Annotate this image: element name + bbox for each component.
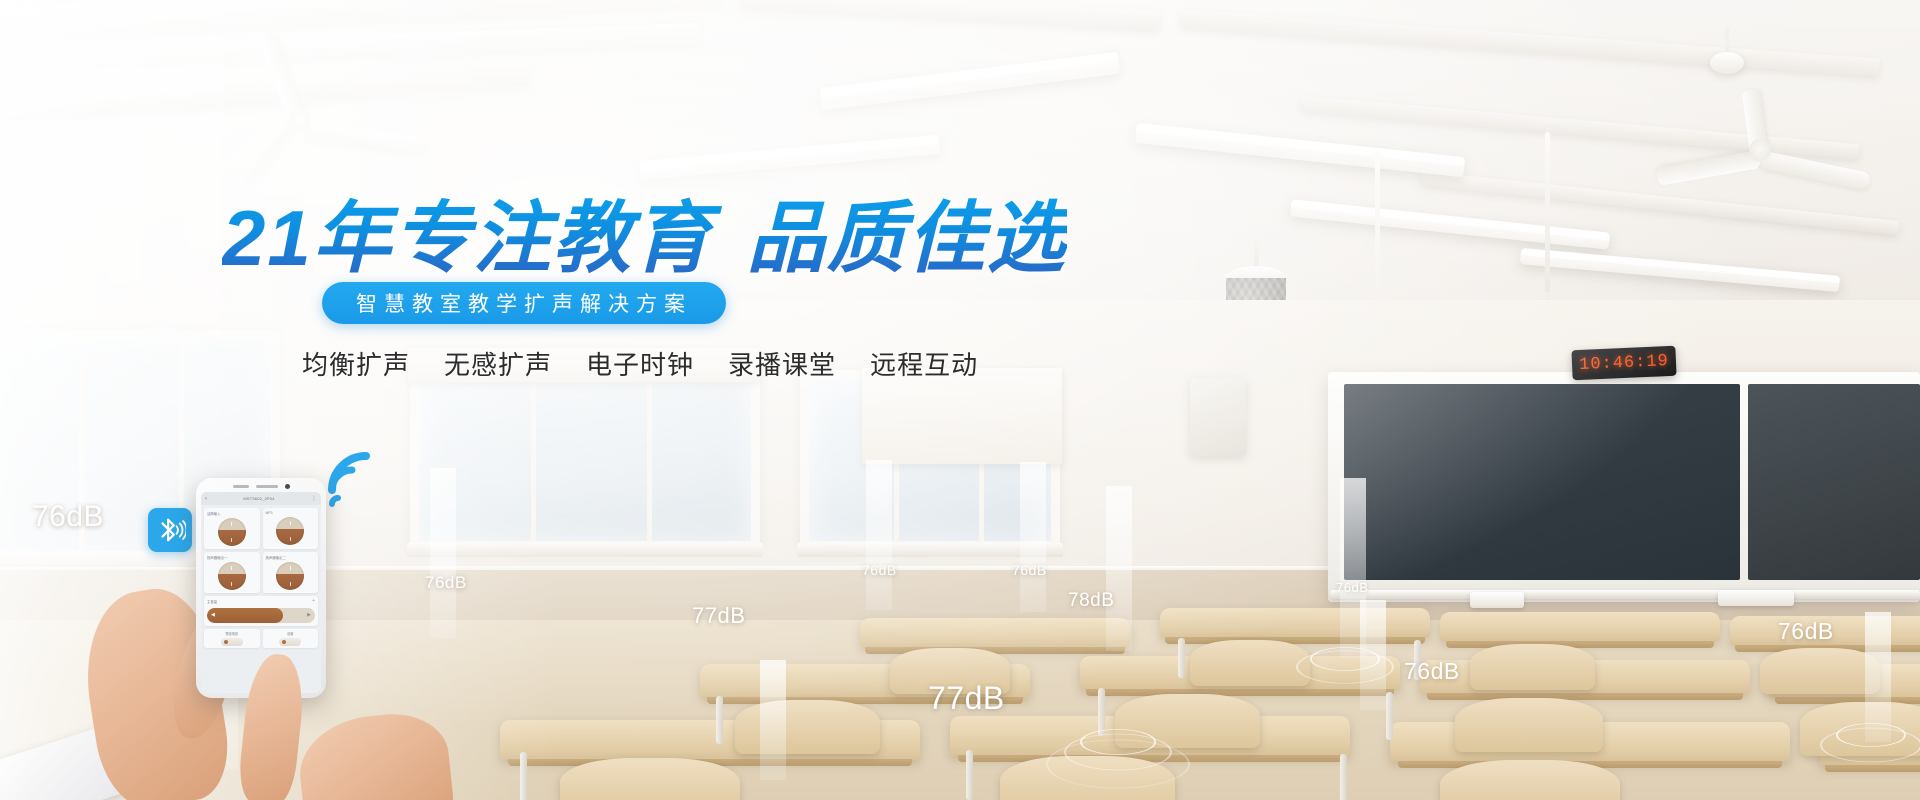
db-label: 77dB — [928, 680, 1005, 717]
settings-label: 设置 — [265, 631, 317, 636]
channel-label: MP3 — [266, 511, 317, 515]
more-vertical-icon[interactable]: ⋮ — [311, 496, 317, 502]
app-header: ‹ MST3602_2P04 ⋮ — [201, 492, 321, 505]
channel-card[interactable]: 扬声器输出二 — [263, 552, 319, 593]
db-label: 76dB — [1778, 618, 1834, 645]
chair — [1190, 640, 1310, 686]
chevron-right-icon: ▶ — [307, 613, 311, 618]
desk — [860, 618, 1130, 648]
db-label: 76dB — [32, 500, 104, 534]
feature-item-3: 录播课堂 — [728, 345, 836, 382]
feature-item-1: 无感扩声 — [444, 345, 552, 382]
desk — [1160, 608, 1430, 638]
smartphone[interactable]: ‹ MST3602_2P04 ⋮ 话筒输入 MP3 — [196, 478, 326, 698]
db-label: 77dB — [692, 603, 745, 629]
app-title: MST3602_2P04 — [210, 496, 308, 501]
headline-part-2: 品质佳选 — [747, 194, 1067, 282]
chevron-left-icon: ◀ — [211, 613, 215, 618]
desk-leg — [966, 750, 973, 800]
desk-leg — [1178, 638, 1185, 678]
desk-leg — [1340, 754, 1347, 800]
desk-leg — [716, 696, 723, 744]
desk-leg — [1098, 688, 1105, 736]
volume-knob[interactable] — [218, 518, 246, 546]
feature-item-4: 远程互动 — [870, 345, 978, 382]
smart-classroom-banner: 10:46:19 — [0, 0, 1920, 800]
feature-item-2: 电子时钟 — [586, 345, 694, 382]
chair — [1115, 694, 1260, 748]
wall-speaker — [1190, 378, 1246, 456]
phone-earpiece — [199, 481, 323, 492]
volume-knob[interactable] — [218, 562, 246, 590]
channel-card[interactable]: MP3 — [263, 508, 319, 549]
clock-time: 10:46:19 — [1579, 352, 1669, 375]
db-label: 76dB — [1336, 580, 1368, 595]
channel-label: 扬声器输出一 — [207, 555, 258, 560]
chair — [1470, 644, 1595, 690]
phone-screen[interactable]: ‹ MST3602_2P04 ⋮ 话筒输入 MP3 — [201, 492, 321, 693]
pendant-pole — [1545, 132, 1550, 292]
feature-item-0: 均衡扩声 — [302, 345, 410, 382]
master-volume-label: 主音量 — [207, 599, 217, 604]
digital-clock: 10:46:19 — [1571, 346, 1676, 381]
slider-fill — [207, 608, 283, 623]
chair — [1440, 760, 1620, 800]
chair — [735, 700, 880, 754]
plus-icon[interactable]: + — [312, 599, 315, 604]
toggle-switch[interactable] — [279, 638, 301, 646]
desk-leg — [520, 752, 527, 800]
desk — [1440, 612, 1720, 642]
chair — [1000, 756, 1175, 800]
channel-grid: 话筒输入 MP3 扬声器输出一 扬声器输出二 — [204, 508, 318, 593]
db-label: 76dB — [1012, 562, 1047, 578]
speaker-grille-icon — [256, 485, 278, 488]
volume-knob[interactable] — [276, 562, 304, 590]
bluetooth-icon — [148, 508, 192, 552]
interactive-display — [1748, 384, 1920, 580]
db-label: 78dB — [1068, 590, 1114, 612]
preset-scene-button[interactable]: 预设场景 — [204, 629, 260, 648]
db-label: 76dB — [862, 562, 897, 578]
master-volume-card[interactable]: 主音量 + ◀ ▶ — [204, 596, 318, 626]
chair — [1800, 702, 1920, 756]
volume-knob[interactable] — [276, 517, 304, 545]
preset-scene-label: 预设场景 — [206, 631, 258, 636]
wifi-signal-icon — [324, 452, 384, 510]
channel-card[interactable]: 扬声器输出一 — [204, 552, 260, 593]
control-panel — [1470, 592, 1524, 608]
chalk-tray — [1330, 590, 1920, 599]
headline-part-1: 21年专注教育 — [222, 194, 713, 282]
feature-list: 均衡扩声 无感扩声 电子时钟 录播课堂 远程互动 — [302, 345, 978, 382]
subtitle-pill-label: 智慧教室教学扩声解决方案 — [356, 288, 692, 318]
db-label: 76dB — [425, 573, 467, 593]
chair — [1455, 698, 1603, 752]
front-camera-icon — [285, 484, 290, 489]
channel-label: 话筒输入 — [207, 511, 258, 516]
channel-label: 扬声器输出二 — [266, 555, 317, 560]
chevron-left-icon[interactable]: ‹ — [205, 496, 207, 502]
control-panel — [1718, 590, 1794, 606]
chair — [1760, 648, 1880, 694]
app-body: 话筒输入 MP3 扬声器输出一 扬声器输出二 — [201, 505, 321, 693]
settings-button[interactable]: 设置 — [263, 629, 319, 648]
ceiling-sensor — [1710, 28, 1744, 80]
subtitle-pill: 智慧教室教学扩声解决方案 — [322, 282, 726, 324]
app-footer: 预设场景 设置 — [204, 629, 318, 648]
master-volume-slider[interactable]: ◀ ▶ — [207, 608, 315, 623]
desk-leg — [1386, 692, 1393, 740]
window-blind — [862, 368, 1062, 464]
page-title: 21年专注教育品质佳选 — [222, 176, 1067, 288]
channel-card[interactable]: 话筒输入 — [204, 508, 260, 549]
chair — [560, 758, 740, 800]
toggle-switch[interactable] — [221, 638, 243, 646]
speaker-grille-icon — [233, 485, 249, 488]
blackboard — [1344, 384, 1740, 580]
db-label: 76dB — [1404, 658, 1460, 685]
